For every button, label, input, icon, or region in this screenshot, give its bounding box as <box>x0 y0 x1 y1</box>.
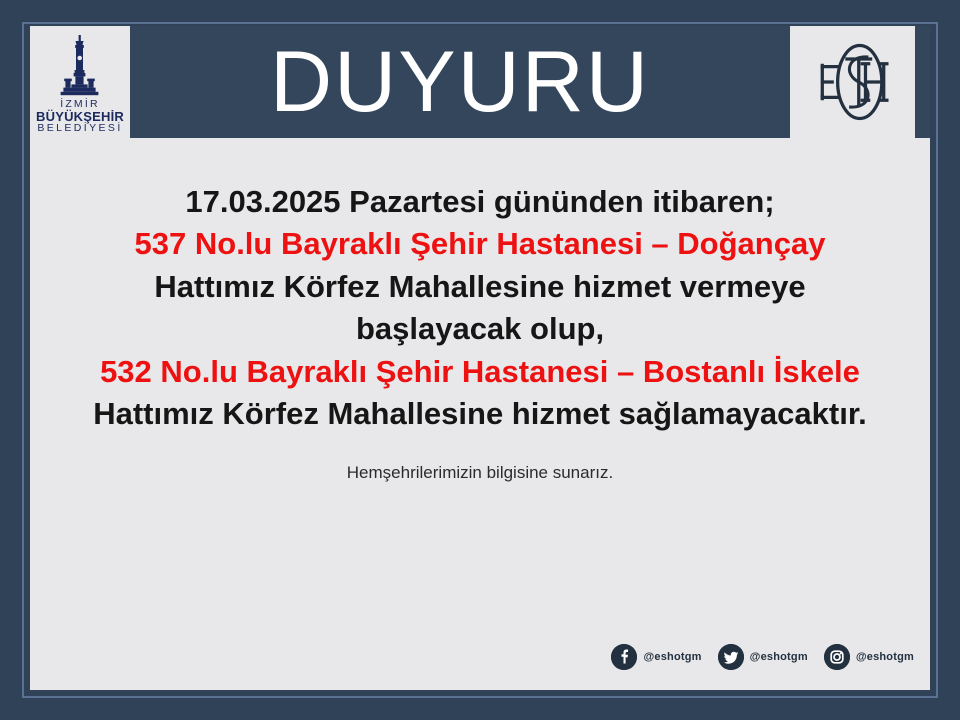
twitter-handle: @eshotgm <box>750 651 808 663</box>
eshot-logo-panel <box>790 26 915 138</box>
izmir-logo-text: İZMİR BÜYÜKŞEHİR BELEDİYESİ <box>36 99 124 135</box>
instagram-icon[interactable] <box>824 644 850 670</box>
facebook-handle: @eshotgm <box>643 651 701 663</box>
announcement-body: 17.03.2025 Pazartesi gününden itibaren; … <box>30 181 930 484</box>
page-title: DUYURU <box>130 26 790 138</box>
announcement-line-6: Hattımız Körfez Mahallesine hizmet sağla… <box>48 393 912 435</box>
announcement-line-4: başlayacak olup, <box>48 308 912 350</box>
clock-tower-icon <box>49 34 111 98</box>
announcement-line-1: 17.03.2025 Pazartesi gününden itibaren; <box>48 181 912 223</box>
announcement-line-3: Hattımız Körfez Mahallesine hizmet verme… <box>48 266 912 308</box>
eshot-monogram-icon <box>805 34 901 130</box>
announcement-card: İZMİR BÜYÜKŞEHİR BELEDİYESİ DUYURU <box>30 26 930 690</box>
izmir-municipality-logo: İZMİR BÜYÜKŞEHİR BELEDİYESİ <box>34 30 126 135</box>
announcement-closing-note: Hemşehrilerimizin bilgisine sunarız. <box>48 462 912 484</box>
announcement-line-2: 537 No.lu Bayraklı Şehir Hastanesi – Doğ… <box>48 223 912 265</box>
facebook-icon[interactable] <box>611 644 637 670</box>
social-media-footer: @eshotgm @eshotgm <box>611 644 914 670</box>
social-item-twitter[interactable]: @eshotgm <box>718 644 808 670</box>
poster-header: İZMİR BÜYÜKŞEHİR BELEDİYESİ DUYURU <box>30 26 930 138</box>
announcement-poster: İZMİR BÜYÜKŞEHİR BELEDİYESİ DUYURU <box>0 0 960 720</box>
izmir-logo-line3: BELEDİYESİ <box>36 123 124 134</box>
izmir-logo-panel: İZMİR BÜYÜKŞEHİR BELEDİYESİ <box>30 26 130 138</box>
social-item-facebook[interactable]: @eshotgm <box>611 644 701 670</box>
announcement-line-5: 532 No.lu Bayraklı Şehir Hastanesi – Bos… <box>48 351 912 393</box>
twitter-icon[interactable] <box>718 644 744 670</box>
social-item-instagram[interactable]: @eshotgm <box>824 644 914 670</box>
instagram-handle: @eshotgm <box>856 651 914 663</box>
